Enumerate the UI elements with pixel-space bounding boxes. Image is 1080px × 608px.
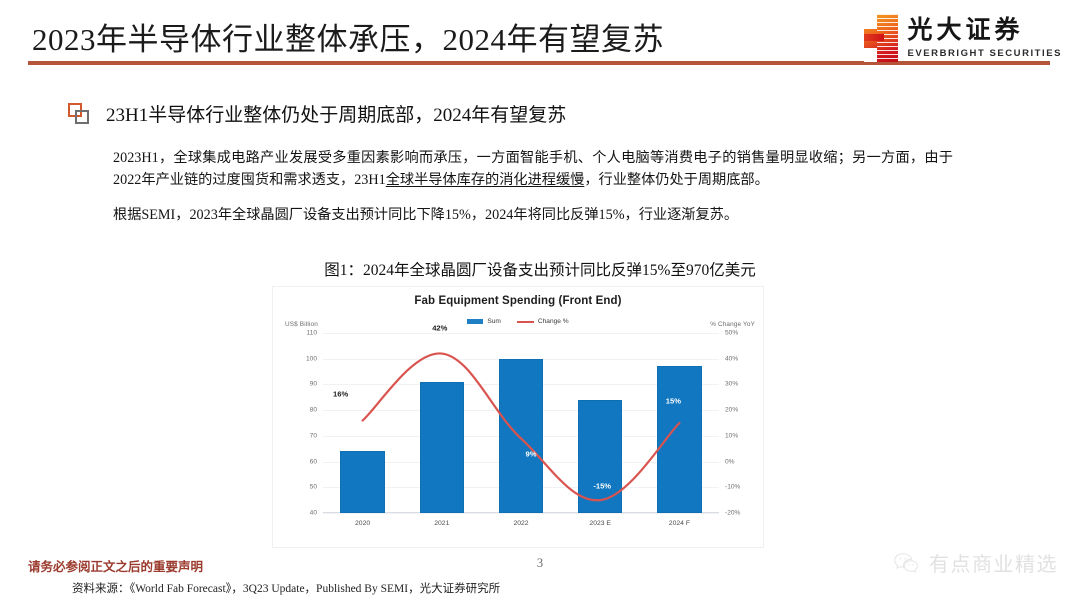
watermark-text: 有点商业精选 xyxy=(929,548,1058,577)
y-axis-tick-left: 80 xyxy=(310,407,317,414)
figure-caption: 图1：2024年全球晶圆厂设备支出预计同比反弹15%至970亿美元 xyxy=(0,258,1080,280)
watermark: 有点商业精选 xyxy=(893,548,1058,577)
slide-header: 2023年半导体行业整体承压，2024年有望复苏 光大证券 EVERBRIGHT… xyxy=(0,0,1080,78)
logo-name-cn: 光大证券 xyxy=(908,17,1062,45)
y-axis-tick-right: 20% xyxy=(725,407,738,414)
legend-line-swatch-icon xyxy=(517,321,534,323)
chart-legend: Sum Change % xyxy=(273,318,763,325)
y-axis-tick-right: 0% xyxy=(725,458,735,465)
logo-name-en: EVERBRIGHT SECURITIES xyxy=(908,48,1062,59)
x-axis-tick: 2021 xyxy=(434,520,449,527)
y-axis-tick-left: 40 xyxy=(310,510,317,517)
y-axis-tick-left: 60 xyxy=(310,458,317,465)
chart-plot-area: 11010090807060504050%40%30%20%10%0%-10%-… xyxy=(323,333,719,513)
y-axis-tick-right: -10% xyxy=(725,484,740,491)
y-axis-tick-left: 100 xyxy=(306,355,317,362)
y-axis-tick-right: 30% xyxy=(725,381,738,388)
change-percent-line xyxy=(323,333,719,513)
paragraph-1-part-b: 全球半导体库存的消化进程缓慢 xyxy=(386,172,585,188)
y-axis-tick-left: 90 xyxy=(310,381,317,388)
section-heading-label: 23H1半导体行业整体仍处于周期底部，2024年有望复苏 xyxy=(106,100,566,127)
y-axis-tick-right: 40% xyxy=(725,355,738,362)
data-label: 42% xyxy=(432,323,447,332)
legend-label-change: Change % xyxy=(538,318,569,325)
paragraph-1-part-c: ，行业整体仍处于周期底部。 xyxy=(584,172,768,188)
source-note: 资料来源：《World Fab Forecast》，3Q23 Update，Pu… xyxy=(72,580,500,596)
data-label: 9% xyxy=(526,450,537,459)
legend-item-sum: Sum xyxy=(467,318,501,325)
data-label: -15% xyxy=(593,482,611,491)
y-axis-tick-left: 70 xyxy=(310,432,317,439)
double-square-icon xyxy=(68,103,90,125)
legend-bar-swatch-icon xyxy=(467,319,483,324)
x-axis-tick: 2020 xyxy=(355,520,370,527)
y-axis-tick-right: 50% xyxy=(725,330,738,337)
data-label: 16% xyxy=(333,390,348,399)
logo-text: 光大证券 EVERBRIGHT SECURITIES xyxy=(908,17,1062,59)
x-axis-tick: 2022 xyxy=(513,520,528,527)
x-axis-tick: 2023 E xyxy=(589,520,611,527)
y-axis-tick-right: 10% xyxy=(725,432,738,439)
y-axis-tick-left: 110 xyxy=(306,330,317,337)
chart-figure: Fab Equipment Spending (Front End) US$ B… xyxy=(272,286,764,548)
slide: 2023年半导体行业整体承压，2024年有望复苏 光大证券 EVERBRIGHT… xyxy=(0,0,1080,608)
page-title: 2023年半导体行业整体承压，2024年有望复苏 xyxy=(32,14,664,59)
paragraph-1: 2023H1，全球集成电路产业发展受多重因素影响而承压，一方面智能手机、个人电脑… xyxy=(113,148,953,191)
legend-item-change: Change % xyxy=(517,318,569,325)
everbright-logo-mark-icon xyxy=(864,14,898,62)
wechat-icon xyxy=(893,552,920,574)
body-text: 2023H1，全球集成电路产业发展受多重因素影响而承压，一方面智能手机、个人电脑… xyxy=(113,148,953,227)
brand-logo: 光大证券 EVERBRIGHT SECURITIES xyxy=(864,14,1062,62)
y-axis-tick-right: -20% xyxy=(725,510,740,517)
data-label: 15% xyxy=(666,397,681,406)
gridline xyxy=(323,513,719,514)
paragraph-2: 根据SEMI，2023年全球晶圆厂设备支出预计同比下降15%，2024年将同比反… xyxy=(113,205,953,227)
legend-label-sum: Sum xyxy=(487,318,501,325)
chart-title: Fab Equipment Spending (Front End) xyxy=(273,295,763,307)
x-axis-tick: 2024 F xyxy=(669,520,690,527)
y-axis-tick-left: 50 xyxy=(310,484,317,491)
section-heading: 23H1半导体行业整体仍处于周期底部，2024年有望复苏 xyxy=(68,100,566,127)
